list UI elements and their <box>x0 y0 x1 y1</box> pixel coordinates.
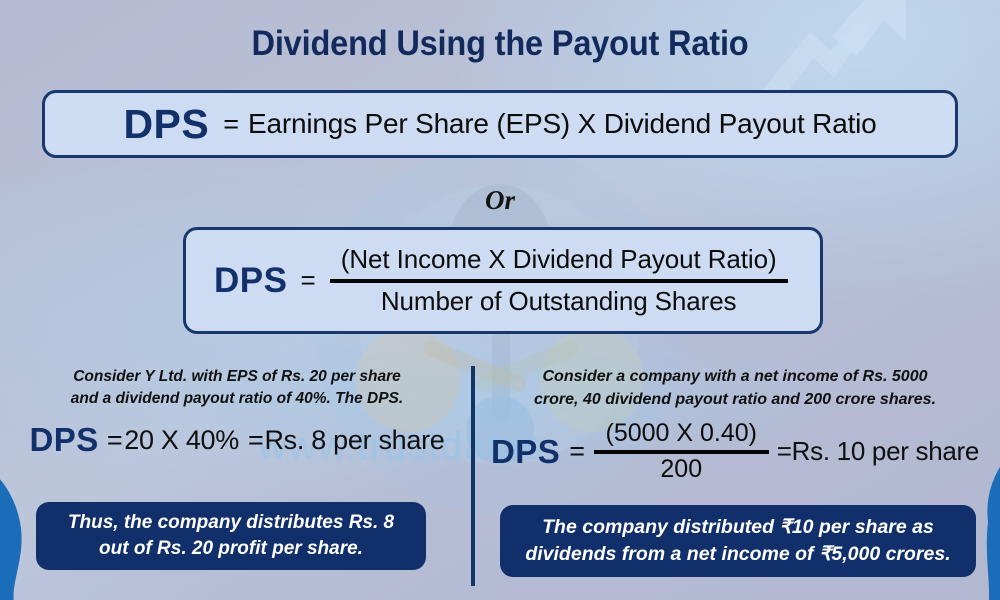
example-right-denominator: 200 <box>660 455 702 484</box>
formula1-dps-label: DPS <box>123 101 209 148</box>
example-left-calculation: DPS = 20 X 40% = Rs. 8 per share <box>12 421 462 459</box>
example-right-result: =Rs. 10 per share <box>777 436 979 467</box>
example-left-description-line-1: Consider Y Ltd. with EPS of Rs. 20 per s… <box>12 366 462 388</box>
formula-box-secondary: DPS = (Net Income X Dividend Payout Rati… <box>183 227 823 334</box>
callout-left: Thus, the company distributes Rs. 8 out … <box>36 502 426 570</box>
callout-right: The company distributed ₹10 per share as… <box>500 505 976 577</box>
example-left-column: Consider Y Ltd. with EPS of Rs. 20 per s… <box>12 366 462 459</box>
example-right-description-line-1: Consider a company with a net income of … <box>482 366 988 389</box>
examples-vertical-divider <box>471 366 475 586</box>
formula2-dps-label: DPS <box>214 261 287 301</box>
example-left-dps-label: DPS <box>29 421 98 459</box>
example-left-equals-2: = <box>248 425 263 456</box>
example-left-description: Consider Y Ltd. with EPS of Rs. 20 per s… <box>12 366 462 410</box>
example-right-fraction: (5000 X 0.40) 200 <box>594 419 769 484</box>
example-right-numerator: (5000 X 0.40) <box>606 419 758 448</box>
example-left-equals-1: = <box>107 425 122 456</box>
example-left-description-line-2: and a dividend payout ratio of 40%. The … <box>12 388 462 410</box>
example-right-description-line-2: crore, 40 dividend payout ratio and 200 … <box>482 389 988 412</box>
formula2-denominator: Number of Outstanding Shares <box>381 286 737 317</box>
callout-right-line-2: dividends from a net income of ₹5,000 cr… <box>525 541 950 568</box>
callout-left-line-1: Thus, the company distributes Rs. 8 <box>68 510 394 536</box>
formula2-fraction-bar <box>330 279 788 283</box>
infographic-canvas: www.trustdatas Dividend Using the Payout… <box>0 0 1000 600</box>
formula2-fraction: (Net Income X Dividend Payout Ratio) Num… <box>330 244 788 317</box>
example-right-column: Consider a company with a net income of … <box>482 366 988 484</box>
formula1-expression: Earnings Per Share (EPS) X Dividend Payo… <box>248 108 877 140</box>
example-right-equals-1: = <box>569 436 584 467</box>
example-right-fraction-bar <box>594 450 769 454</box>
formula2-numerator: (Net Income X Dividend Payout Ratio) <box>341 244 777 275</box>
formula2-equals-sign: = <box>300 265 315 296</box>
page-title: Dividend Using the Payout Ratio <box>35 24 965 64</box>
example-left-expression: 20 X 40% <box>124 425 239 456</box>
example-right-description: Consider a company with a net income of … <box>482 366 988 411</box>
callout-left-line-2: out of Rs. 20 profit per share. <box>68 536 394 562</box>
content-layer: Dividend Using the Payout Ratio DPS = Ea… <box>0 0 1000 600</box>
example-right-dps-label: DPS <box>491 433 560 471</box>
formula-box-primary: DPS = Earnings Per Share (EPS) X Dividen… <box>42 90 958 158</box>
example-right-calculation: DPS = (5000 X 0.40) 200 =Rs. 10 per shar… <box>482 419 988 484</box>
example-left-result: Rs. 8 per share <box>264 425 444 456</box>
or-separator-label: Or <box>0 185 1000 216</box>
callout-right-line-1: The company distributed ₹10 per share as <box>525 514 950 541</box>
formula1-equals-sign: = <box>223 109 239 140</box>
